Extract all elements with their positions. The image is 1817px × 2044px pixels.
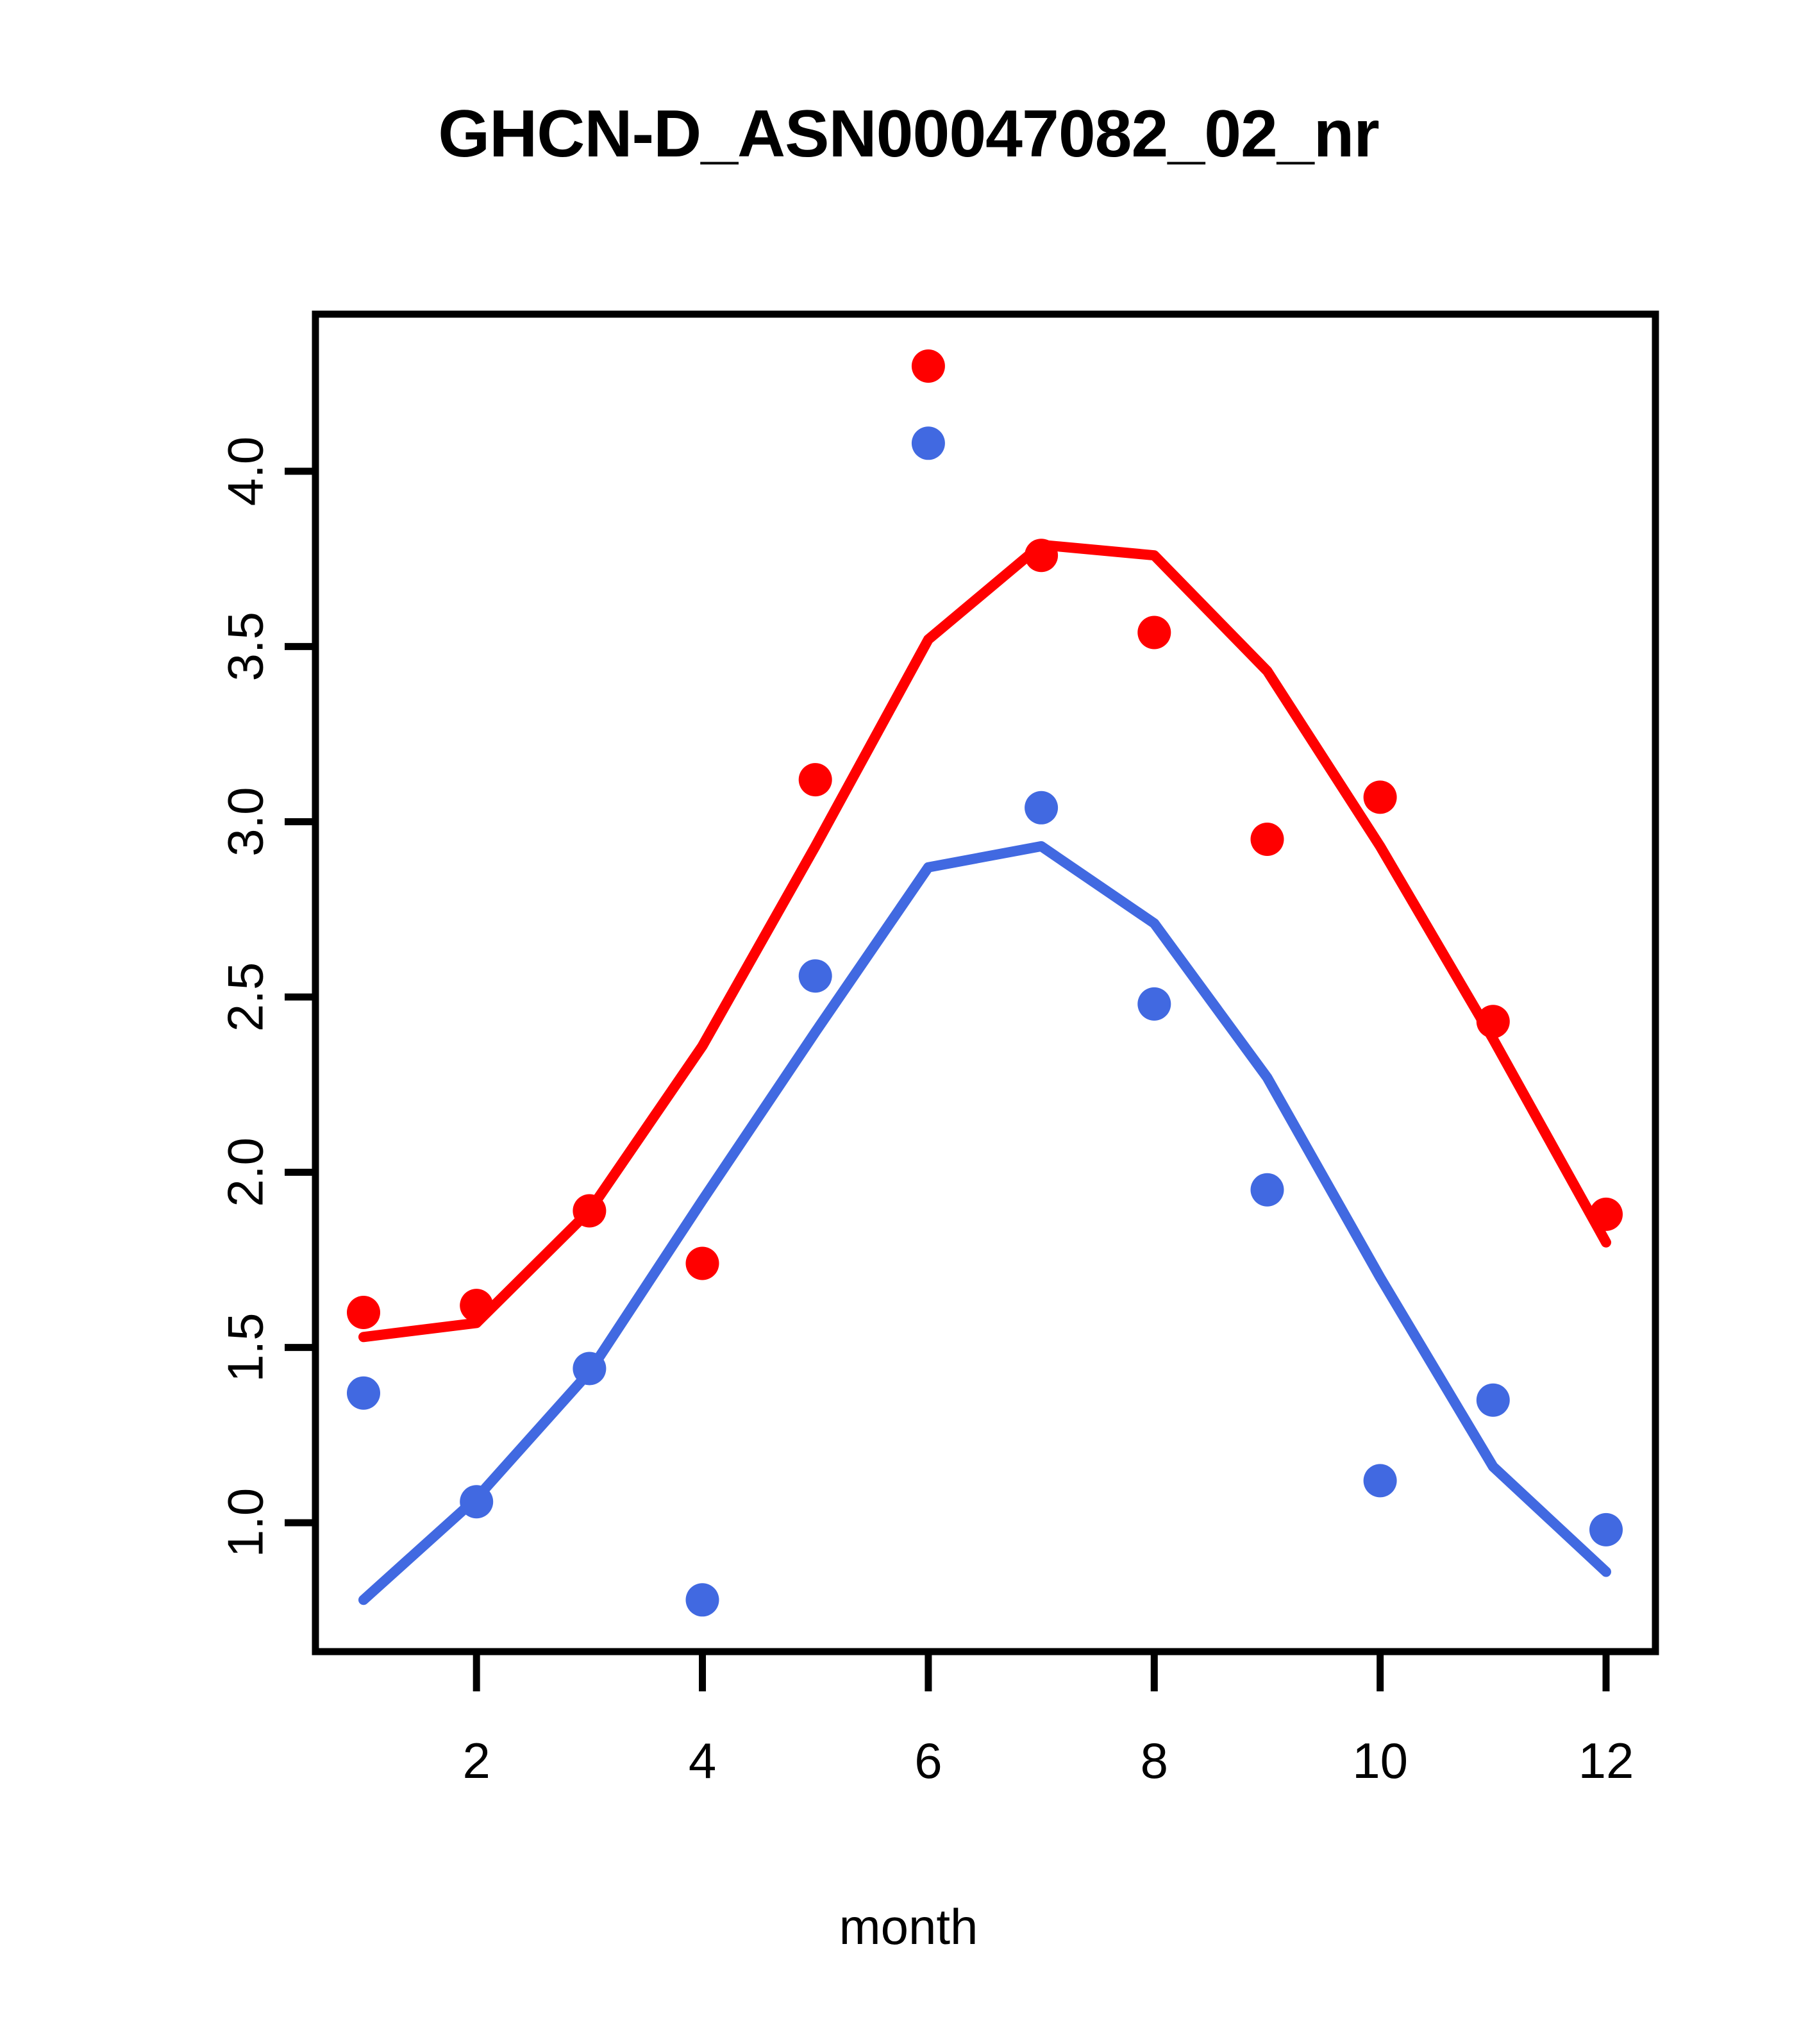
x-axis-tick-label: 12 bbox=[1578, 1732, 1634, 1789]
data-point-blue-points bbox=[1364, 1464, 1397, 1497]
data-point-blue-points bbox=[460, 1485, 493, 1518]
data-point-blue-points bbox=[1137, 987, 1171, 1021]
data-point-red-points bbox=[686, 1247, 719, 1280]
data-series-layer bbox=[347, 349, 1623, 1616]
x-axis-tick-label: 10 bbox=[1352, 1732, 1408, 1789]
data-point-red-points bbox=[1477, 1005, 1510, 1038]
data-point-red-points bbox=[799, 763, 832, 796]
x-axis: 24681012 bbox=[462, 1652, 1634, 1789]
data-point-blue-points bbox=[799, 959, 832, 993]
x-axis-label: month bbox=[0, 1898, 1817, 1956]
y-axis-tick-label: 3.0 bbox=[217, 787, 273, 856]
y-axis-tick-label: 2.0 bbox=[217, 1137, 273, 1207]
data-point-red-points bbox=[573, 1194, 606, 1228]
x-axis-tick-label: 2 bbox=[462, 1732, 490, 1789]
x-axis-tick-label: 4 bbox=[689, 1732, 716, 1789]
plot-area: 1.01.52.02.53.03.54.0 24681012 bbox=[0, 0, 1817, 2044]
x-axis-tick-label: 6 bbox=[914, 1732, 942, 1789]
chart-page: GHCN-D_ASN00047082_02_nr 1.01.52.02.53.0… bbox=[0, 0, 1817, 2044]
series-line-blue-line bbox=[364, 846, 1606, 1600]
data-point-blue-points bbox=[573, 1352, 606, 1386]
data-point-blue-points bbox=[347, 1377, 380, 1410]
data-point-red-points bbox=[460, 1289, 493, 1322]
data-point-red-points bbox=[1137, 616, 1171, 649]
y-axis-tick-label: 2.5 bbox=[217, 962, 273, 1032]
data-point-red-points bbox=[1025, 539, 1058, 572]
data-point-blue-points bbox=[1025, 791, 1058, 825]
y-axis-tick-label: 3.5 bbox=[217, 612, 273, 681]
data-point-blue-points bbox=[1589, 1513, 1623, 1546]
y-axis: 1.01.52.02.53.03.54.0 bbox=[217, 437, 315, 1557]
x-axis-tick-label: 8 bbox=[1141, 1732, 1168, 1789]
y-axis-tick-label: 1.0 bbox=[217, 1488, 273, 1557]
data-point-red-points bbox=[1589, 1198, 1623, 1231]
data-point-blue-points bbox=[1477, 1384, 1510, 1417]
data-point-red-points bbox=[912, 349, 945, 383]
series-line-red-line bbox=[364, 545, 1606, 1337]
y-axis-tick-label: 4.0 bbox=[217, 437, 273, 506]
data-point-blue-points bbox=[1251, 1173, 1284, 1207]
y-axis-tick-label: 1.5 bbox=[217, 1312, 273, 1382]
data-point-blue-points bbox=[686, 1583, 719, 1616]
data-point-blue-points bbox=[912, 426, 945, 460]
data-point-red-points bbox=[347, 1296, 380, 1329]
data-point-red-points bbox=[1251, 823, 1284, 856]
data-point-red-points bbox=[1364, 780, 1397, 814]
